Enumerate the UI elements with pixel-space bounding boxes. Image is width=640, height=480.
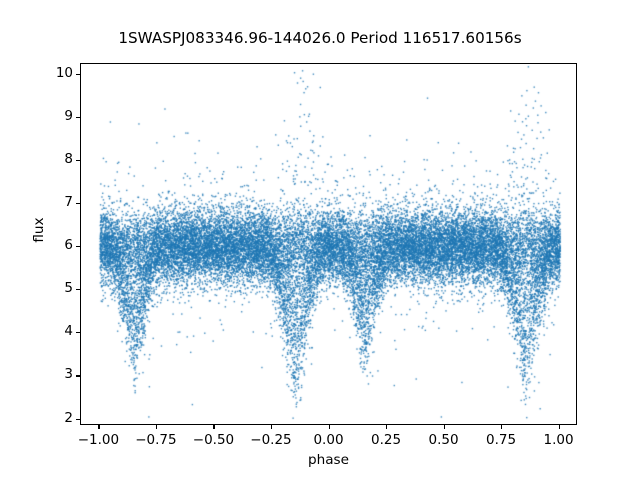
plot-axes-area: [80, 63, 577, 425]
y-tick-label: 9: [33, 108, 73, 124]
x-tick-mark: [271, 425, 272, 429]
y-axis-label: flux: [31, 185, 47, 275]
chart-title: 1SWASPJ083346.96-144026.0 Period 116517.…: [0, 29, 640, 47]
scatter-plot-canvas: [81, 64, 578, 426]
y-tick-label: 2: [33, 410, 73, 426]
y-tick-mark: [76, 419, 80, 420]
x-axis-label: phase: [80, 452, 577, 468]
x-tick-mark: [329, 425, 330, 429]
y-tick-label: 3: [33, 366, 73, 382]
x-tick-mark: [559, 425, 560, 429]
x-tick-mark: [156, 425, 157, 429]
x-tick-mark: [213, 425, 214, 429]
y-tick-mark: [76, 289, 80, 290]
y-tick-mark: [76, 74, 80, 75]
y-tick-label: 8: [33, 151, 73, 167]
x-tick-mark: [386, 425, 387, 429]
y-tick-mark: [76, 203, 80, 204]
y-tick-mark: [76, 332, 80, 333]
y-tick-label: 4: [33, 323, 73, 339]
y-tick-mark: [76, 375, 80, 376]
y-tick-mark: [76, 246, 80, 247]
x-tick-label: 1.00: [524, 432, 594, 448]
y-tick-mark: [76, 117, 80, 118]
y-tick-label: 5: [33, 280, 73, 296]
figure-canvas: 1SWASPJ083346.96-144026.0 Period 116517.…: [0, 0, 640, 480]
x-tick-mark: [444, 425, 445, 429]
y-tick-label: 10: [33, 65, 73, 81]
y-tick-mark: [76, 160, 80, 161]
x-tick-mark: [98, 425, 99, 429]
x-tick-mark: [501, 425, 502, 429]
